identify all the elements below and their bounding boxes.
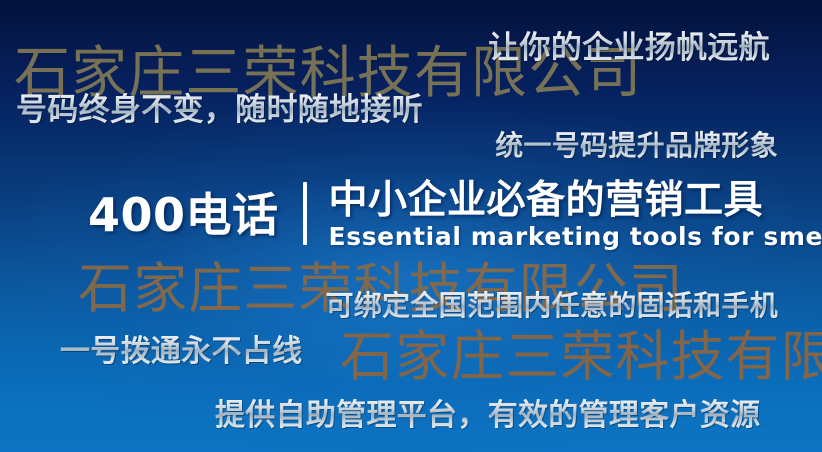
tagline-never-busy: 一号拨通永不占线 [60,326,302,370]
brand-lockup: 400电话 中小企业必备的营销工具 Essential marketing to… [88,180,822,251]
promo-banner: 石家庄三荣科技有限公司 石家庄三荣科技有限公司 石家庄三荣科技有限公司 让你的企… [0,0,822,452]
tagline-self-service-platform: 提供自助管理平台，有效的管理客户资源 [215,390,760,434]
tagline-bind-nationwide: 可绑定全国范围内任意的固话和手机 [326,284,778,324]
brand-lockup-right: 中小企业必备的营销工具 Essential marketing tools fo… [307,180,822,251]
tagline-number-lifetime: 号码终身不变，随时随地接听 [16,84,423,129]
tagline-brand-image: 统一号码提升品牌形象 [495,124,778,164]
slogan-english: Essential marketing tools for smes [329,224,822,250]
brand-lockup-left: 400电话 [88,180,303,251]
tagline-sail-far: 让你的企业扬帆远航 [488,22,770,67]
brand-400-title: 400电话 [88,192,279,238]
slogan-chinese: 中小企业必备的营销工具 [329,180,822,221]
